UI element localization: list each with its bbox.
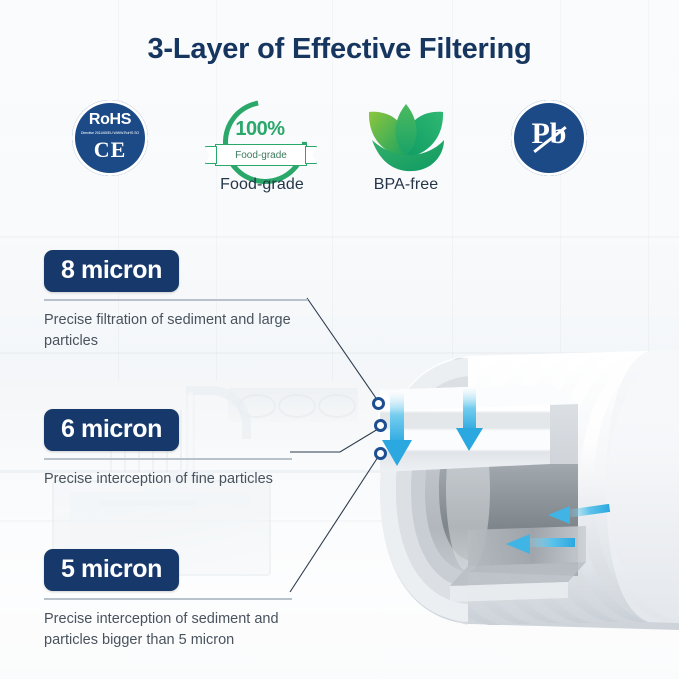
callout-6-micron: 6 micron Precise interception of fine pa… xyxy=(44,409,294,490)
infographic-canvas: 3-Layer of Effective Filtering RoHS Dire… xyxy=(0,0,679,679)
cartridge-interior-shelf xyxy=(450,526,586,602)
callout-description-5: Precise interception of sediment and par… xyxy=(44,609,294,653)
callout-rule xyxy=(44,598,292,600)
micron-chip-5[interactable]: 5 micron xyxy=(44,549,179,591)
layer-marker-6-micron[interactable] xyxy=(374,419,387,432)
callout-description-8: Precise filtration of sediment and large… xyxy=(44,310,300,354)
callout-rule xyxy=(44,458,292,460)
layer-marker-8-micron[interactable] xyxy=(372,397,385,410)
filter-cartridge-illustration xyxy=(318,330,679,650)
callout-rule xyxy=(44,299,308,301)
micron-chip-8[interactable]: 8 micron xyxy=(44,250,179,292)
micron-chip-6[interactable]: 6 micron xyxy=(44,409,179,451)
callout-5-micron: 5 micron Precise interception of sedimen… xyxy=(44,549,294,652)
callout-8-micron: 8 micron Precise filtration of sediment … xyxy=(44,250,310,353)
callout-description-6: Precise interception of fine particles xyxy=(44,469,294,491)
layer-marker-5-micron[interactable] xyxy=(374,447,387,460)
